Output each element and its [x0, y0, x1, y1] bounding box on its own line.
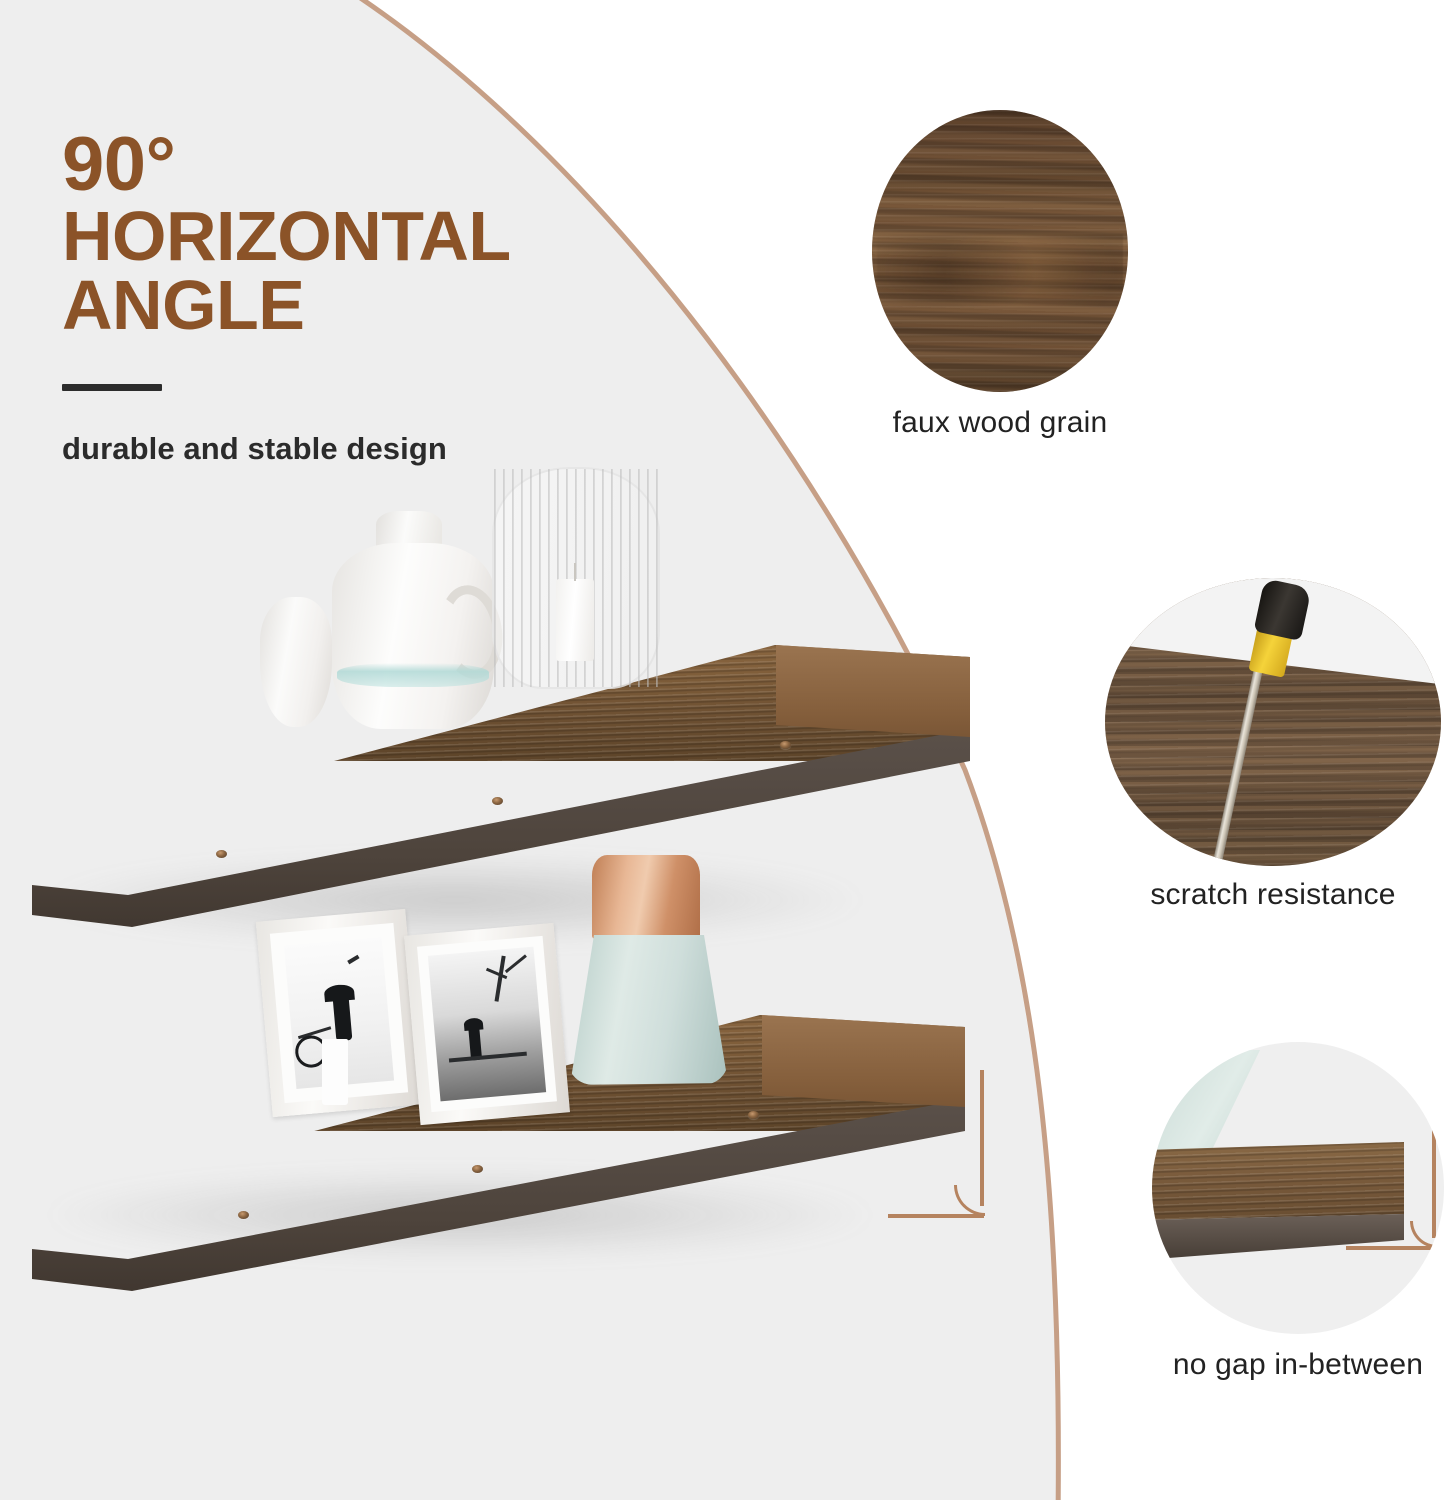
lower-shelf: [20, 1015, 970, 1295]
angle-marker-icon: [1348, 1120, 1444, 1250]
screw-hole: [748, 1111, 759, 1119]
scene-angle-marker-icon: [888, 1070, 992, 1218]
screw-hole: [492, 797, 503, 805]
screw-hole: [780, 741, 791, 749]
small-white-vase: [260, 597, 332, 727]
mint-copper-vase: [562, 855, 730, 1087]
screw-hole: [216, 850, 227, 858]
feature-faux-wood-grain: faux wood grain: [872, 110, 1128, 440]
headline-degrees: 90°: [62, 128, 682, 202]
feature-no-gap-in-between: no gap in-between: [1152, 1042, 1444, 1387]
ribbed-glass-hurricane: [492, 467, 660, 689]
product-feature-graphic: 90° HORIZONTAL ANGLE durable and stable …: [0, 0, 1445, 1500]
headline-block: 90° HORIZONTAL ANGLE durable and stable …: [62, 128, 682, 467]
white-picture-frame-bench: [404, 923, 570, 1125]
headline-subhead: durable and stable design: [62, 431, 682, 467]
feature-caption: no gap in-between: [1173, 1348, 1423, 1382]
shelf-scene: [0, 470, 1010, 1330]
wood-swatch-circle-icon: [872, 110, 1128, 392]
screw-hole: [238, 1211, 249, 1219]
white-marker: [322, 1039, 348, 1105]
pillar-candle: [556, 579, 594, 661]
feature-caption: scratch resistance: [1150, 878, 1395, 912]
white-jug-vase: [332, 533, 494, 729]
feature-caption: faux wood grain: [893, 406, 1108, 440]
headline-angle: ANGLE: [62, 271, 682, 340]
headline-horizontal: HORIZONTAL: [62, 202, 682, 271]
shelf-edge-flush-wall-circle-icon: [1152, 1042, 1444, 1334]
screw-hole: [472, 1165, 483, 1173]
feature-scratch-resistance: scratch resistance: [1105, 578, 1441, 918]
screwdriver-on-wood-circle-icon: [1105, 578, 1441, 866]
headline-rule: [62, 384, 162, 391]
upper-shelf: [20, 645, 970, 945]
